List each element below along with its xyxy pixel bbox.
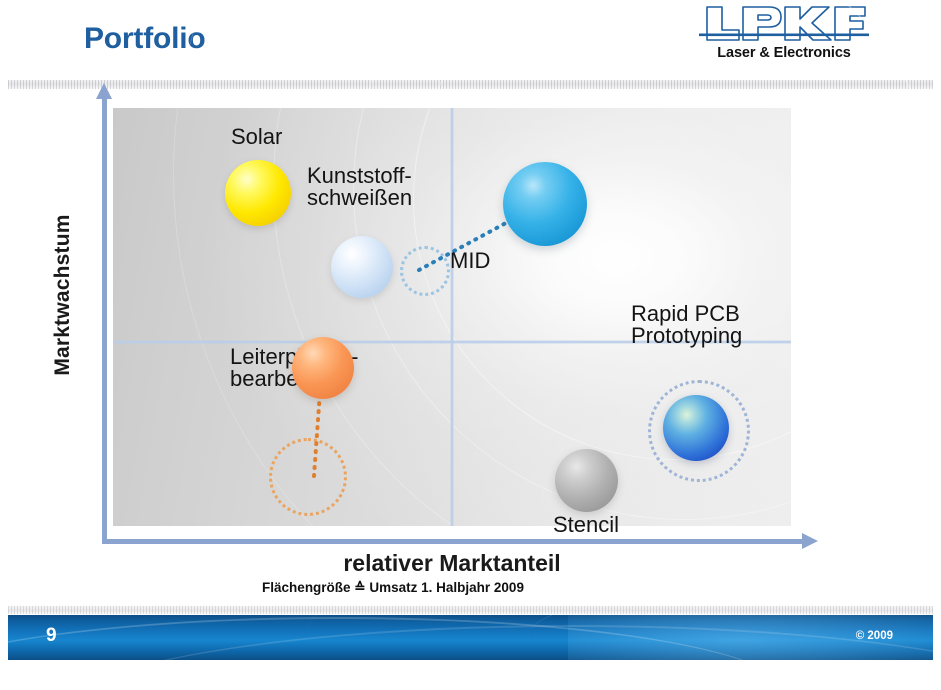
x-axis-arrow-icon xyxy=(802,533,818,549)
bubble-kunststoffschweissen[interactable] xyxy=(331,236,393,298)
bubble-stencil[interactable] xyxy=(555,449,618,512)
y-axis-label: Marktwachstum xyxy=(51,190,75,400)
copyright-notice: © 2009 xyxy=(856,630,893,642)
background-ring xyxy=(273,0,941,600)
footer-divider xyxy=(8,606,933,614)
portfolio-matrix-chart: Solar Kunststoff- schweißen MID Leiterpl… xyxy=(0,88,941,588)
bubble-label-kunststoffschweissen: Kunststoff- schweißen xyxy=(307,165,412,210)
page-title: Portfolio xyxy=(84,22,206,56)
quadrant-divider-vertical xyxy=(450,108,454,526)
bubble-leiterplattenbearbeitung[interactable] xyxy=(292,337,354,399)
chart-footnote: Flächengröße ≙ Umsatz 1. Halbjahr 2009 xyxy=(113,580,673,596)
bubble-label-solar: Solar xyxy=(231,126,282,148)
slide-footer: 9 © 2009 xyxy=(8,615,933,660)
x-axis-label: relativer Marktanteil xyxy=(113,550,791,577)
chart-plot-area: Solar Kunststoff- schweißen MID Leiterpl… xyxy=(113,108,791,526)
y-axis-arrow-icon xyxy=(96,83,112,99)
bubble-label-rapid-pcb-prototyping: Rapid PCB Prototyping xyxy=(631,303,742,348)
page-number: 9 xyxy=(46,625,57,647)
lpkf-logo-subtitle: Laser & Electronics xyxy=(695,45,873,61)
x-axis-line xyxy=(102,539,804,544)
lpkf-logo: Laser & Electronics xyxy=(695,4,873,66)
bubble-label-mid: MID xyxy=(450,250,490,272)
lpkf-logo-mark xyxy=(695,4,873,44)
bubble-label-stencil: Stencil xyxy=(553,514,619,536)
bubble-rapid-pcb-prototyping[interactable] xyxy=(663,395,729,461)
bubble-solar[interactable] xyxy=(225,160,291,226)
y-axis-line xyxy=(102,96,107,544)
bubble-mid[interactable] xyxy=(503,162,587,246)
